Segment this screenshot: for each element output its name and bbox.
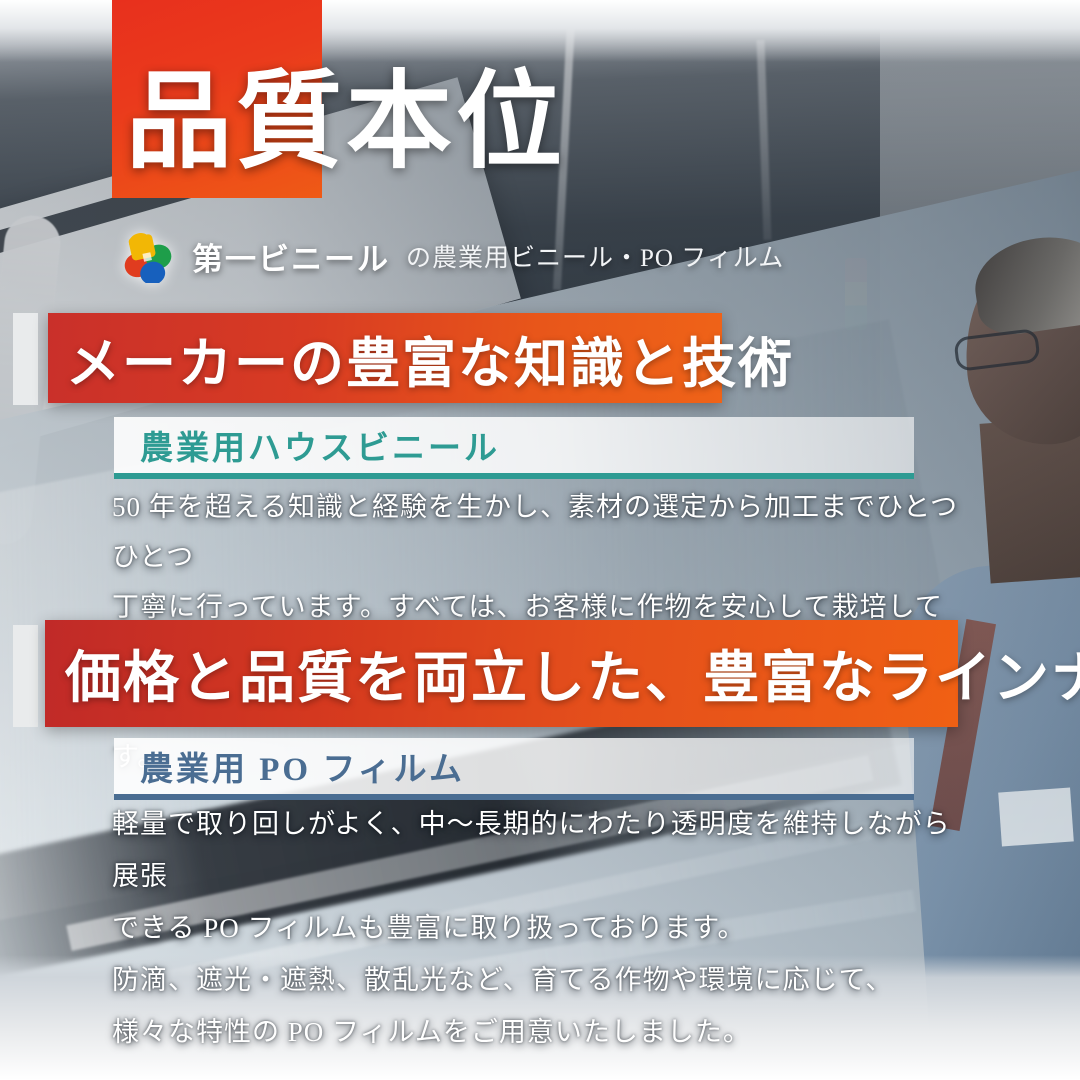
brand-tagline: の農業用ビニール・PO フィルム [406, 238, 784, 274]
section-tick-marker-1 [13, 313, 38, 405]
section-heading-po-film: 農業用 PO フィルム [114, 738, 914, 800]
content-overlay: 品質本位 第一ビニール の農業用ビニール・PO フィルム [0, 0, 1080, 1080]
body-2-line-3: 防滴、遮光・遮熱、散乱光など、育てる作物や環境に応じて、 [112, 954, 952, 1006]
brand-line: 第一ビニール の農業用ビニール・PO フィルム [118, 226, 784, 286]
daiichi-vinyl-pinwheel-logo [118, 229, 176, 283]
section-banner-1: メーカーの豊富な知識と技術 [48, 313, 722, 403]
section-banner-1-label: メーカーの豊富な知識と技術 [48, 319, 794, 398]
section-banner-2-label: 価格と品質を両立した、豊富なラインナップ [45, 633, 1080, 714]
body-2-line-1: 軽量で取り回しがよく、中～長期的にわたり透明度を維持しながら展張 [112, 798, 952, 902]
brand-name: 第一ビニール [192, 234, 390, 279]
section-heading-2-label: 農業用 PO フィルム [114, 742, 465, 790]
section-banner-2: 価格と品質を両立した、豊富なラインナップ [45, 620, 958, 727]
section-body-2: 軽量で取り回しがよく、中～長期的にわたり透明度を維持しながら展張 できる PO … [112, 798, 952, 1058]
section-heading-house-vinyl: 農業用ハウスビニール [114, 417, 914, 479]
promo-banner-root: 品質本位 第一ビニール の農業用ビニール・PO フィルム [0, 0, 1080, 1080]
section-tick-marker-2 [13, 625, 38, 727]
body-1-line-1: 50 年を超える知識と経験を生かし、素材の選定から加工までひとつひとつ [112, 482, 962, 582]
body-2-line-2: できる PO フィルムも豊富に取り扱っております。 [112, 902, 952, 954]
section-heading-1-label: 農業用ハウスビニール [114, 421, 500, 469]
page-title: 品質本位 [126, 66, 566, 180]
body-2-line-4: 様々な特性の PO フィルムをご用意いたしました。 [112, 1006, 952, 1058]
